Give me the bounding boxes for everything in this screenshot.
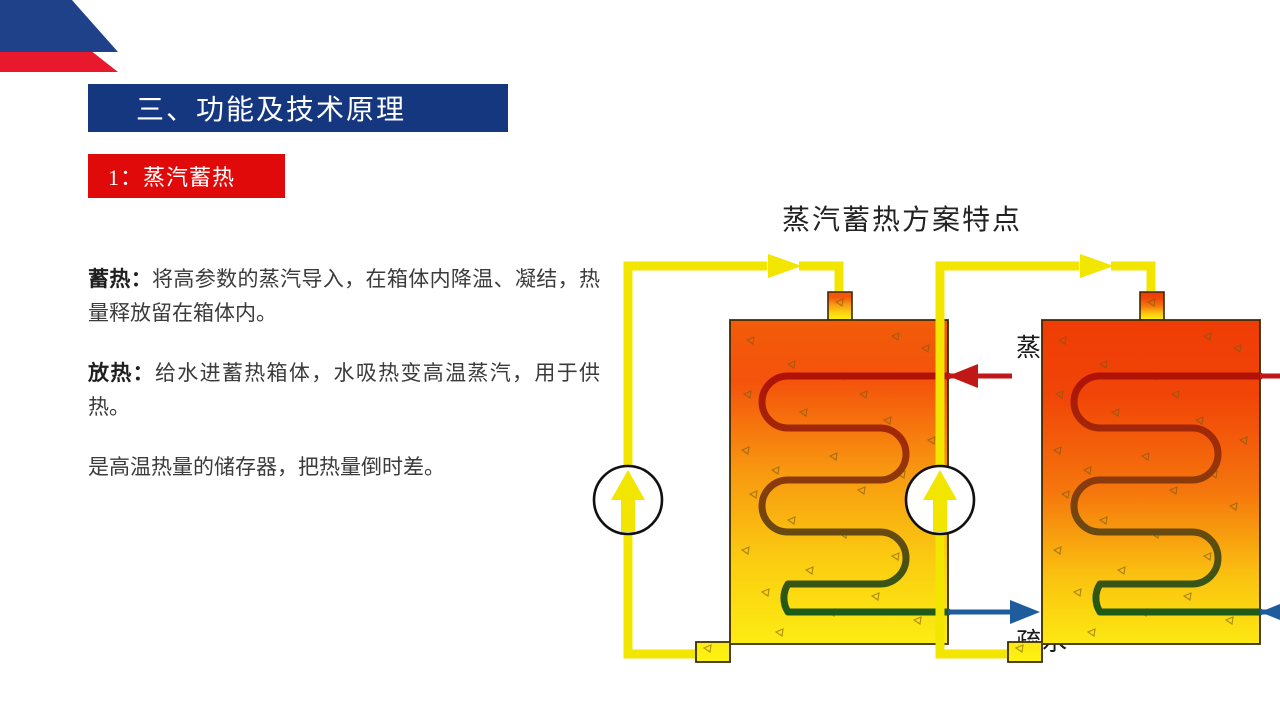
tank-top-nozzle-charging [828,292,852,320]
paragraph-charging: 蓄热：将高参数的蒸汽导入，在箱体内降温、凝结，热量释放留在箱体内。 [88,262,600,330]
storage-unit-discharging: 蒸汽 给水 放热过程 [906,254,1280,664]
paragraph-discharging-lead: 放热： [88,361,155,385]
paragraph-discharging-text: 给水进蓄热箱体，水吸热变高温蒸汽，用于供热。 [88,361,600,419]
section-heading-text: 三、功能及技术原理 [88,88,406,128]
diagram-panel: 蒸汽蓄热方案特点 [592,188,1280,673]
pipe-flow-arrow-charging [768,254,802,278]
paragraph-charging-lead: 蓄热： [88,267,152,291]
storage-unit-charging: 蒸汽 疏水 蓄热过程 [594,254,1068,664]
section-heading-banner: 三、功能及技术原理 [88,84,508,132]
tank-top-nozzle-discharging [1140,292,1164,320]
pump-symbol-charging [594,466,662,534]
subsection-tag-text: 1：蒸汽蓄热 [88,160,235,192]
subsection-tag: 1：蒸汽蓄热 [88,154,285,198]
paragraph-summary-text: 是高温热量的储存器，把热量倒时差。 [88,455,445,479]
pump-symbol-discharging [906,466,974,534]
storage-process-diagram: 蒸汽 疏水 蓄热过程 [592,244,1280,664]
paragraph-discharging: 放热：给水进蓄热箱体，水吸热变高温蒸汽，用于供热。 [88,356,600,424]
body-copy: 蓄热：将高参数的蒸汽导入，在箱体内降温、凝结，热量释放留在箱体内。 放热：给水进… [88,262,600,484]
pipe-flow-arrow-discharging [1080,254,1114,278]
corner-blue-shape [0,0,118,52]
paragraph-charging-text: 将高参数的蒸汽导入，在箱体内降温、凝结，热量释放留在箱体内。 [88,267,600,325]
water-port-discharging: 给水 [1260,600,1280,656]
diagram-title: 蒸汽蓄热方案特点 [592,198,1212,238]
steam-port-discharging: 蒸汽 [1260,334,1280,388]
paragraph-summary: 是高温热量的储存器，把热量倒时差。 [88,450,600,484]
